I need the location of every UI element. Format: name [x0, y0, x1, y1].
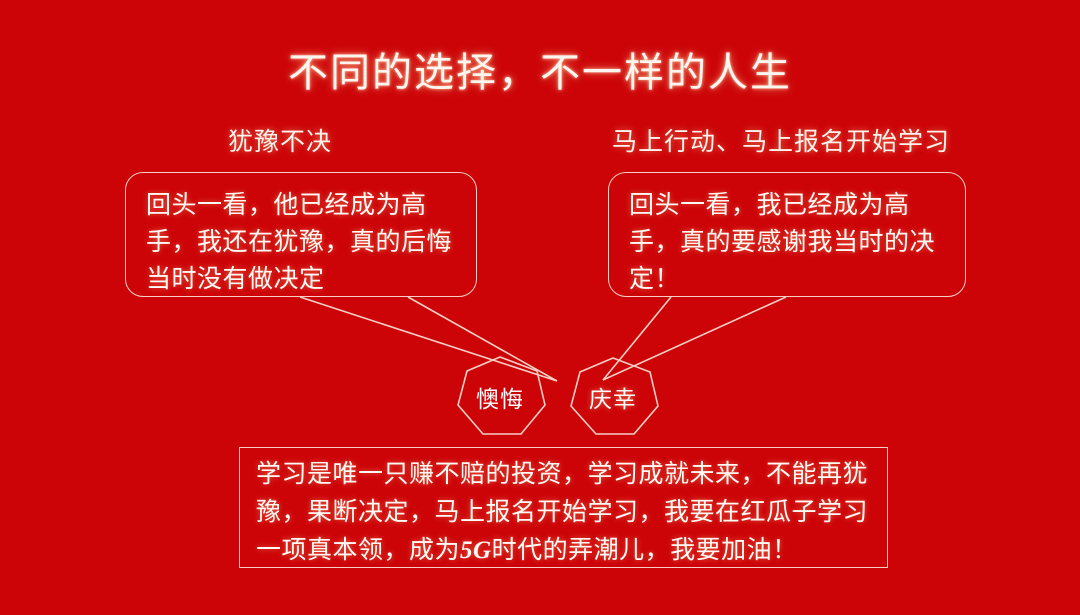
heptagon-label-regret: 懊悔: [462, 380, 538, 414]
heptagon-label-lucky: 庆幸: [576, 380, 650, 414]
column-subtitle-left: 犹豫不决: [228, 122, 332, 158]
speech-bubble-lucky: 回头一看，我已经成为高手，真的要感谢我当时的决定！: [608, 172, 966, 297]
statement-emphasis: 5G: [460, 537, 492, 564]
statement-box: 学习是唯一只赚不赔的投资，学习成就未来，不能再犹豫，果断决定，马上报名开始学习，…: [239, 447, 888, 568]
bubble-tail-right: [603, 297, 786, 380]
slide-canvas: 不同的选择，不一样的人生 犹豫不决 马上行动、马上报名开始学习 回头一看，他已经…: [0, 0, 1080, 615]
bubble-tail-left: [300, 297, 557, 381]
page-title: 不同的选择，不一样的人生: [0, 40, 1080, 98]
column-subtitle-right: 马上行动、马上报名开始学习: [612, 122, 950, 158]
speech-bubble-regret: 回头一看，他已经成为高手，我还在犹豫，真的后悔当时没有做决定: [125, 172, 477, 297]
statement-part2: 时代的弄潮儿，我要加油！: [492, 537, 798, 564]
